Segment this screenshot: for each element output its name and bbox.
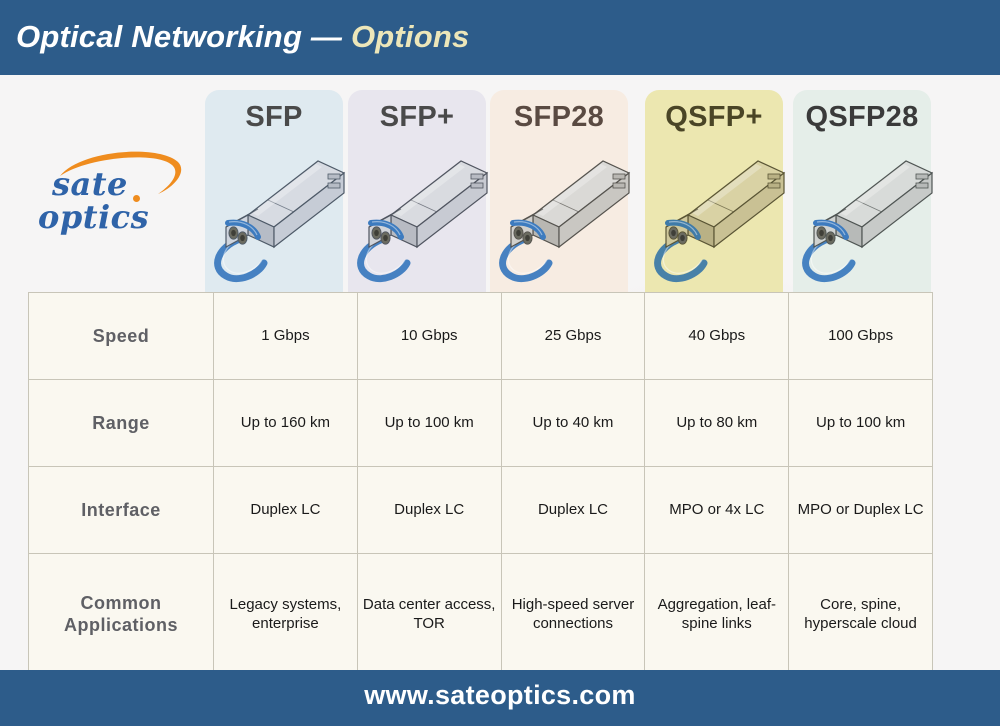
- cell-speed-qsfpplus: 40 Gbps: [645, 293, 789, 380]
- column-header-qsfpplus: QSFP+: [645, 101, 783, 134]
- column-header-sfp: SFP: [205, 101, 343, 134]
- page-title-dash: —: [311, 19, 342, 54]
- footer-website-url: www.sateoptics.com: [0, 680, 1000, 711]
- table-row: RangeUp to 160 kmUp to 100 kmUp to 40 km…: [29, 380, 933, 467]
- cell-interface-qsfpplus: MPO or 4x LC: [645, 467, 789, 554]
- transceiver-module-qsfp28-icon: [790, 143, 940, 288]
- cell-common-applications-sfp: Legacy systems, enterprise: [214, 554, 358, 675]
- transceiver-module-sfpplus-icon: [345, 143, 495, 288]
- table-row: CommonApplicationsLegacy systems, enterp…: [29, 554, 933, 675]
- cell-range-qsfp28: Up to 100 km: [789, 380, 933, 467]
- row-label-interface: Interface: [29, 467, 214, 554]
- logo: sate optics: [34, 148, 200, 240]
- cell-range-qsfpplus: Up to 80 km: [645, 380, 789, 467]
- column-header-sfp28: SFP28: [490, 101, 628, 134]
- cell-common-applications-sfpplus: Data center access, TOR: [357, 554, 501, 675]
- table-row: Speed1 Gbps10 Gbps25 Gbps40 Gbps100 Gbps: [29, 293, 933, 380]
- logo-text-line2: optics: [38, 198, 149, 236]
- page-title-main: Optical Networking: [16, 19, 302, 54]
- row-label-range: Range: [29, 380, 214, 467]
- page-title-accent: Options: [351, 19, 470, 54]
- cell-common-applications-qsfpplus: Aggregation, leaf-spine links: [645, 554, 789, 675]
- cell-interface-qsfp28: MPO or Duplex LC: [789, 467, 933, 554]
- cell-common-applications-sfp28: High-speed server connections: [501, 554, 645, 675]
- cell-interface-sfpplus: Duplex LC: [357, 467, 501, 554]
- cell-range-sfp28: Up to 40 km: [501, 380, 645, 467]
- transceiver-module-sfp-icon: [202, 143, 352, 288]
- cell-speed-sfpplus: 10 Gbps: [357, 293, 501, 380]
- page-title: Optical Networking — Options: [16, 19, 469, 55]
- row-label-speed: Speed: [29, 293, 214, 380]
- cell-speed-qsfp28: 100 Gbps: [789, 293, 933, 380]
- cell-speed-sfp28: 25 Gbps: [501, 293, 645, 380]
- cell-range-sfp: Up to 160 km: [214, 380, 358, 467]
- cell-interface-sfp28: Duplex LC: [501, 467, 645, 554]
- row-label-common-applications: CommonApplications: [29, 554, 214, 675]
- cell-range-sfpplus: Up to 100 km: [357, 380, 501, 467]
- cell-common-applications-qsfp28: Core, spine, hyperscale cloud: [789, 554, 933, 675]
- transceiver-module-qsfpplus-icon: [642, 143, 792, 288]
- transceiver-module-sfp28-icon: [487, 143, 637, 288]
- column-header-sfpplus: SFP+: [348, 101, 486, 134]
- cell-interface-sfp: Duplex LC: [214, 467, 358, 554]
- cell-speed-sfp: 1 Gbps: [214, 293, 358, 380]
- table-row: InterfaceDuplex LCDuplex LCDuplex LCMPO …: [29, 467, 933, 554]
- specification-table: Speed1 Gbps10 Gbps25 Gbps40 Gbps100 Gbps…: [28, 292, 933, 675]
- column-header-qsfp28: QSFP28: [793, 101, 931, 134]
